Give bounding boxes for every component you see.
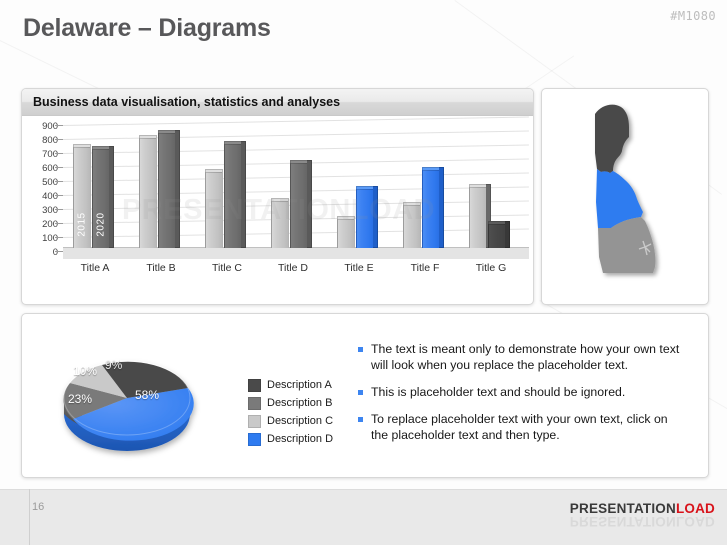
bullet-list: The text is meant only to demonstrate ho…: [358, 341, 688, 454]
pie-label-description-a: 9%: [105, 358, 122, 372]
y-tick-400: 400: [42, 192, 58, 201]
bullet-text-3: To replace placeholder text with your ow…: [371, 411, 688, 443]
bullet-item-2[interactable]: This is placeholder text and should be i…: [358, 384, 688, 400]
x-label-title-d: Title D: [278, 262, 308, 274]
bullet-item-1[interactable]: The text is meant only to demonstrate ho…: [358, 341, 688, 373]
bar-group-title-d: [271, 163, 308, 248]
y-tick-800: 800: [42, 136, 58, 145]
pie-label-description-d: 58%: [135, 388, 159, 402]
legend-swatch-a: [248, 379, 261, 392]
pie-label-description-c: 10%: [73, 364, 97, 378]
footer-divider: [29, 489, 30, 545]
pie-chart: 58% 23% 10% 9%: [42, 336, 247, 461]
legend-item-description-d[interactable]: Description D: [248, 430, 333, 448]
logo-ghost-primary: PRESENTATION: [570, 514, 676, 529]
x-axis-labels: Title A Title B Title C Title D Title E …: [63, 262, 529, 282]
y-tick-200: 200: [42, 220, 58, 229]
legend-label-c: Description C: [267, 416, 333, 427]
bar-group-title-g: [469, 187, 506, 248]
x-label-title-c: Title C: [212, 262, 242, 274]
bar-title-d-2020: [290, 163, 308, 248]
legend-label-d: Description D: [267, 434, 333, 445]
legend-swatch-d: [248, 433, 261, 446]
footer: 16 PRESENTATIONLOAD PRESENTATIONLOAD: [0, 489, 727, 545]
bar-label-2020: 2020: [96, 212, 107, 236]
x-label-title-f: Title F: [411, 262, 440, 274]
y-tick-100: 100: [42, 234, 58, 243]
bar-group-title-b: [139, 133, 176, 248]
bar-title-a-2015: 2015: [73, 147, 91, 248]
bullet-text-1: The text is meant only to demonstrate ho…: [371, 341, 688, 373]
bar-title-c-2015: [205, 172, 223, 248]
bar-group-title-e: [337, 189, 374, 248]
bar-title-g-2015: [469, 187, 487, 248]
x-label-title-a: Title A: [81, 262, 110, 274]
y-tick-500: 500: [42, 178, 58, 187]
legend-item-description-b[interactable]: Description B: [248, 394, 333, 412]
bar-group-title-a: 2015 2020: [73, 147, 110, 248]
legend-label-b: Description B: [267, 398, 332, 409]
y-tick-300: 300: [42, 206, 58, 215]
bullet-text-2: This is placeholder text and should be i…: [371, 384, 625, 400]
x-label-title-e: Title E: [344, 262, 373, 274]
chart-header-title: Business data visualisation, statistics …: [22, 89, 533, 116]
map-region-new-castle: [595, 104, 629, 172]
legend-swatch-b: [248, 397, 261, 410]
pie-and-text-card: 58% 23% 10% 9% Description A Description…: [21, 313, 709, 478]
bar-groups: 2015 2020: [63, 122, 529, 248]
bar-title-e-2015: [337, 219, 355, 248]
bar-title-c-2020: [224, 144, 242, 248]
bullet-item-3[interactable]: To replace placeholder text with your ow…: [358, 411, 688, 443]
template-code: #M1080: [670, 9, 716, 23]
bar-title-b-2020: [158, 133, 176, 248]
page-title: Delaware – Diagrams: [23, 14, 271, 43]
legend-item-description-a[interactable]: Description A: [248, 376, 333, 394]
bar-title-g-2020: [488, 224, 506, 248]
bar-chart-plot: PRESENTATIONLOAD 900 800 700 600 500 400…: [22, 116, 534, 305]
bullet-square-icon: [358, 417, 363, 422]
legend-label-a: Description A: [267, 380, 332, 391]
pie-legend: Description A Description B Description …: [248, 376, 333, 448]
presentationload-logo-reflection: PRESENTATIONLOAD: [570, 514, 715, 529]
bar-title-f-2015: [403, 205, 421, 248]
x-label-title-g: Title G: [476, 262, 507, 274]
bullet-square-icon: [358, 390, 363, 395]
slide: Delaware – Diagrams #M1080 Business data…: [0, 0, 727, 545]
legend-item-description-c[interactable]: Description C: [248, 412, 333, 430]
y-tick-0: 0: [53, 248, 58, 257]
bullet-square-icon: [358, 347, 363, 352]
page-number: 16: [32, 501, 44, 513]
legend-swatch-c: [248, 415, 261, 428]
bar-chart-card: Business data visualisation, statistics …: [21, 88, 534, 305]
pie-label-description-b: 23%: [68, 392, 92, 406]
delaware-map-card: [541, 88, 709, 305]
bar-label-2015: 2015: [77, 212, 88, 236]
y-tick-700: 700: [42, 150, 58, 159]
y-tick-600: 600: [42, 164, 58, 173]
bar-group-title-c: [205, 144, 242, 248]
bar-title-e-2020: [356, 189, 374, 248]
chart-floor: [63, 247, 529, 259]
logo-ghost-accent: LOAD: [676, 514, 715, 529]
delaware-map: [542, 89, 708, 304]
bar-title-f-2020: [422, 170, 440, 248]
bar-group-title-f: [403, 170, 440, 248]
x-label-title-b: Title B: [146, 262, 175, 274]
y-tick-900: 900: [42, 122, 58, 131]
bar-title-a-2020: 2020: [92, 149, 110, 248]
bar-title-b-2015: [139, 138, 157, 248]
bar-title-d-2015: [271, 201, 289, 248]
